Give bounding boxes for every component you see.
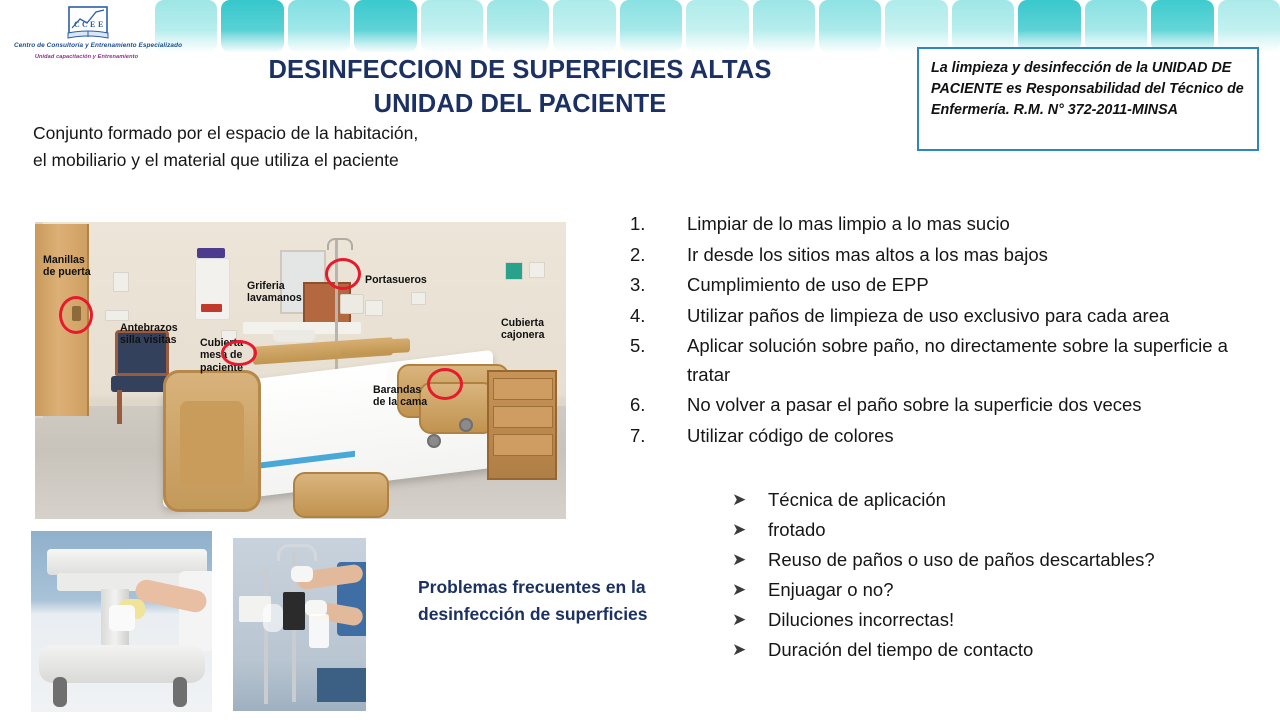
hospital-room-photo: Manillas de puertaAntebrazos silla visit… <box>35 222 566 519</box>
cleaning-step-row: 7.Utilizar código de colores <box>630 422 1270 451</box>
logo: C C E E Centro de Consultoría y Entrenam… <box>14 6 159 72</box>
cleaning-step-text: Limpiar de lo mas limpio a lo mas sucio <box>687 210 1010 239</box>
cleaning-step-number: 5. <box>630 332 687 389</box>
stretcher-caster-right <box>173 677 187 707</box>
issue-text: Duración del tiempo de contacto <box>768 635 1033 664</box>
issue-row: ➤Diluciones incorrectas! <box>732 605 1272 634</box>
room-label-6: Barandas de la cama <box>373 384 427 409</box>
dresser-drawer-3 <box>493 434 553 456</box>
room-highlight-circle-1 <box>59 296 93 334</box>
room-highlight-circle-3 <box>325 258 361 290</box>
bed-footboard <box>163 370 261 512</box>
logo-tagline-secondary: Unidad capacitación y Entrenamiento <box>14 54 159 60</box>
intro-paragraph: Conjunto formado por el espacio de la ha… <box>33 120 423 173</box>
wall-plate-3 <box>365 300 383 316</box>
cleaning-step-number: 4. <box>630 302 687 331</box>
wall-plate-6 <box>529 262 545 278</box>
bed-wheel-2 <box>459 418 473 432</box>
bed-wheel-1 <box>427 434 441 448</box>
cleaning-step-text: Utilizar código de colores <box>687 422 894 451</box>
sink-basin <box>273 330 315 342</box>
responsibility-callout-text: La limpieza y desinfección de la UNIDAD … <box>931 58 1245 121</box>
room-label-7: Cubierta cajonera <box>501 317 545 342</box>
iv-pump-monitor <box>340 294 364 314</box>
issue-row: ➤Duración del tiempo de contacto <box>732 635 1272 664</box>
bed-footboard-rail <box>293 472 389 518</box>
issue-row: ➤Técnica de aplicación <box>732 485 1272 514</box>
issue-text: Reuso de paños o uso de paños descartabl… <box>768 545 1155 574</box>
arrow-bullet-icon: ➤ <box>732 605 768 634</box>
logo-mark-icon: C C E E <box>66 6 110 40</box>
cleaning-step-number: 1. <box>630 210 687 239</box>
cleaning-step-text: Cumplimiento de uso de EPP <box>687 271 929 300</box>
logo-tagline-primary: Centro de Consultoría y Entrenamiento Es… <box>14 42 159 49</box>
room-label-1: Manillas de puerta <box>43 254 91 279</box>
cleaning-step-number: 6. <box>630 391 687 420</box>
cleaning-steps-list: 1.Limpiar de lo mas limpio a lo mas suci… <box>630 210 1270 452</box>
cleaning-step-row: 4.Utilizar paños de limpieza de uso excl… <box>630 302 1270 331</box>
cleaning-step-text: No volver a pasar el paño sobre la super… <box>687 391 1142 420</box>
arrow-bullet-icon: ➤ <box>732 485 768 514</box>
issue-text: Técnica de aplicación <box>768 485 946 514</box>
issue-row: ➤Reuso de paños o uso de paños descartab… <box>732 545 1272 574</box>
room-highlight-circle-2 <box>221 340 257 366</box>
iv-pole-hook <box>327 238 353 250</box>
wall-plate-5 <box>505 262 523 280</box>
cleaning-step-row: 3.Cumplimiento de uso de EPP <box>630 271 1270 300</box>
bed-footboard-panel <box>180 401 244 485</box>
room-label-5: Portasueros <box>365 274 427 286</box>
issue-row: ➤frotado <box>732 515 1272 544</box>
iv-photo-cabinet <box>317 668 366 702</box>
iv-photo-spray-bottle <box>309 614 329 648</box>
iv-photo-fluid-bag <box>263 604 283 632</box>
issue-text: frotado <box>768 515 826 544</box>
dresser-drawer-1 <box>493 378 553 400</box>
cleaning-step-number: 2. <box>630 241 687 270</box>
chair-leg-left <box>117 390 122 424</box>
page-title: DESINFECCION DE SUPERFICIES ALTAS UNIDAD… <box>200 54 840 121</box>
common-issues-heading: Problemas frecuentes en la desinfección … <box>418 574 718 628</box>
wall-plate-2 <box>105 310 129 321</box>
iv-photo-device <box>283 592 305 630</box>
page-title-line1: DESINFECCION DE SUPERFICIES ALTAS <box>200 54 840 87</box>
arrow-bullet-icon: ➤ <box>732 635 768 664</box>
slide: C C E E Centro de Consultoría y Entrenam… <box>0 0 1280 720</box>
cleaning-step-text: Aplicar solución sobre paño, no directam… <box>687 332 1270 389</box>
room-highlight-circle-4 <box>427 368 463 400</box>
issue-text: Diluciones incorrectas! <box>768 605 954 634</box>
cleaning-step-text: Ir desde los sitios mas altos a los mas … <box>687 241 1048 270</box>
cleaning-step-row: 2.Ir desde los sitios mas altos a los ma… <box>630 241 1270 270</box>
cleaning-step-text: Utilizar paños de limpieza de uso exclus… <box>687 302 1169 331</box>
room-label-2: Antebrazos silla visitas <box>120 322 178 347</box>
wall-plate-1 <box>113 272 129 292</box>
room-label-4: Griferia lavamanos <box>247 280 302 305</box>
cleaning-step-row: 5.Aplicar solución sobre paño, no direct… <box>630 332 1270 389</box>
common-issues-heading-line2: desinfección de superficies <box>418 601 718 628</box>
arrow-bullet-icon: ➤ <box>732 575 768 604</box>
svg-text:C: C <box>74 20 80 29</box>
cleaning-step-row: 1.Limpiar de lo mas limpio a lo mas suci… <box>630 210 1270 239</box>
issue-row: ➤Enjuagar o no? <box>732 575 1272 604</box>
arrow-bullet-icon: ➤ <box>732 515 768 544</box>
cleaning-step-row: 6.No volver a pasar el paño sobre la sup… <box>630 391 1270 420</box>
issue-text: Enjuagar o no? <box>768 575 894 604</box>
iv-photo-glove-upper <box>291 566 313 582</box>
stretcher-caster-left <box>53 677 67 707</box>
iv-photo-hook <box>277 544 317 561</box>
svg-text:E: E <box>90 20 95 29</box>
arrow-bullet-icon: ➤ <box>732 545 768 574</box>
dispenser-top <box>197 248 225 258</box>
common-issues-heading-line1: Problemas frecuentes en la <box>418 574 718 601</box>
iv-photo-pole-second <box>264 568 268 704</box>
nightstand-dresser <box>487 370 557 480</box>
dresser-drawer-2 <box>493 406 553 428</box>
cleaning-stretcher-photo <box>31 531 212 712</box>
cleaning-step-number: 7. <box>630 422 687 451</box>
cleaning-iv-pole-photo <box>233 538 366 711</box>
svg-text:C: C <box>82 20 88 29</box>
cleaning-cloth <box>109 605 135 631</box>
responsibility-callout-box: La limpieza y desinfección de la UNIDAD … <box>917 47 1259 151</box>
page-title-line2: UNIDAD DEL PACIENTE <box>200 88 840 121</box>
dispenser-red-band <box>201 304 222 312</box>
wall-plate-4 <box>411 292 426 305</box>
cleaning-step-number: 3. <box>630 271 687 300</box>
svg-text:E: E <box>98 20 103 29</box>
common-issues-list: ➤Técnica de aplicación➤frotado➤Reuso de … <box>732 485 1272 665</box>
